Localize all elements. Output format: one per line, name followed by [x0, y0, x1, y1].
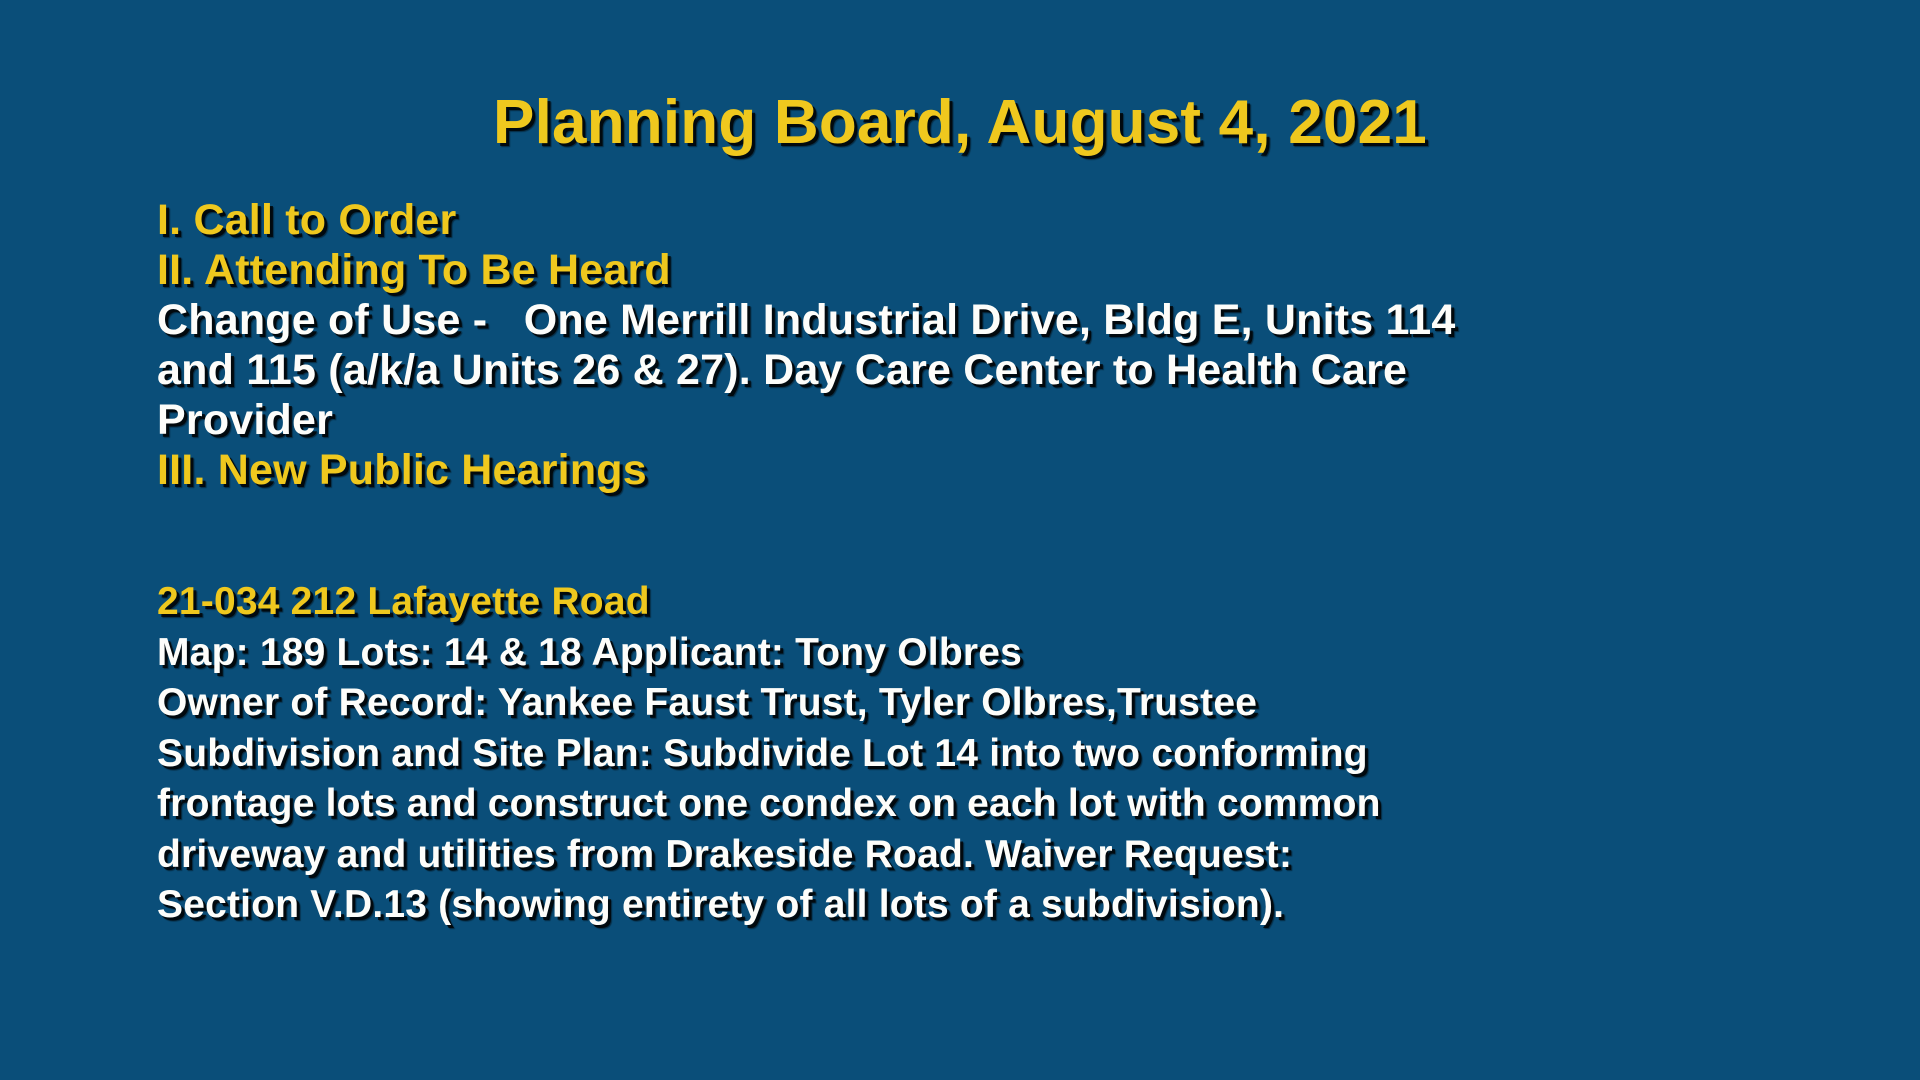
hearing-line: 21-034 212 Lafayette Road	[157, 577, 1657, 628]
agenda-line: Provider	[157, 395, 1657, 445]
agenda-line: and 115 (a/k/a Units 26 & 27). Day Care …	[157, 345, 1657, 395]
hearing-line: Section V.D.13 (showing entirety of all …	[157, 880, 1657, 931]
agenda-line: Change of Use - One Merrill Industrial D…	[157, 295, 1657, 345]
public-hearing-section: 21-034 212 Lafayette RoadMap: 189 Lots: …	[157, 577, 1657, 931]
agenda-section: I. Call to OrderII. Attending To Be Hear…	[157, 195, 1657, 495]
agenda-slide: Planning Board, August 4, 2021 I. Call t…	[0, 0, 1920, 1080]
hearing-line: driveway and utilities from Drakeside Ro…	[157, 830, 1657, 881]
hearing-line: Map: 189 Lots: 14 & 18 Applicant: Tony O…	[157, 628, 1657, 679]
hearing-line: Owner of Record: Yankee Faust Trust, Tyl…	[157, 678, 1657, 729]
page-title-row: Planning Board, August 4, 2021	[0, 88, 1920, 158]
page-title: Planning Board, August 4, 2021	[493, 88, 1427, 158]
hearing-line: frontage lots and construct one condex o…	[157, 779, 1657, 830]
agenda-line: III. New Public Hearings	[157, 445, 1657, 495]
hearing-line: Subdivision and Site Plan: Subdivide Lot…	[157, 729, 1657, 780]
agenda-line: II. Attending To Be Heard	[157, 245, 1657, 295]
agenda-line: I. Call to Order	[157, 195, 1657, 245]
